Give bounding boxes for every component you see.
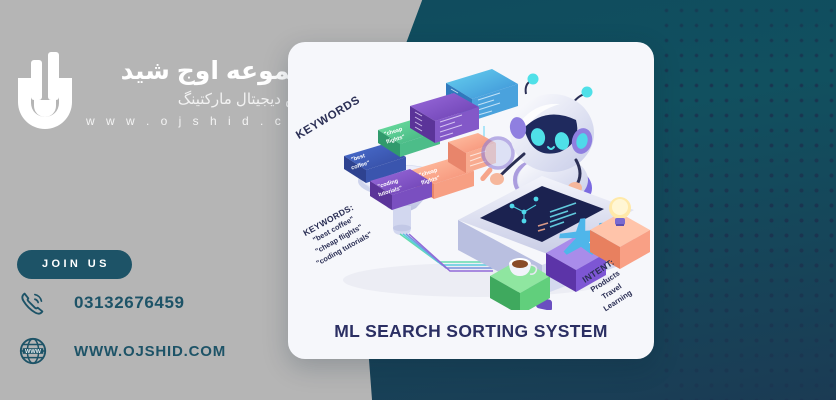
phone-number: 03132676459 bbox=[74, 293, 185, 313]
globe-icon: WWW bbox=[18, 336, 48, 366]
brand-block: مجموعه اوج شید آژانس دیجیتال مارکتینگ w … bbox=[14, 52, 324, 138]
website-url: WWW.OJSHID.COM bbox=[74, 343, 226, 360]
card-title: ML SEARCH SORTING SYSTEM bbox=[288, 321, 654, 342]
ml-search-sorting-illustration bbox=[288, 48, 654, 310]
ojshid-u-logo-icon bbox=[14, 52, 76, 138]
banner-root: مجموعه اوج شید آژانس دیجیتال مارکتینگ w … bbox=[0, 0, 836, 400]
contact-phone-row[interactable]: 03132676459 bbox=[18, 288, 185, 318]
halftone-dot-pattern-small bbox=[656, 0, 836, 150]
svg-text:WWW: WWW bbox=[25, 349, 42, 355]
illustration-card: "best coffee" "cheap flights" "cheap fli… bbox=[288, 42, 654, 359]
phone-icon bbox=[18, 288, 48, 318]
join-us-button[interactable]: JOIN US bbox=[17, 250, 132, 279]
contact-website-row[interactable]: WWW WWW.OJSHID.COM bbox=[18, 336, 226, 366]
